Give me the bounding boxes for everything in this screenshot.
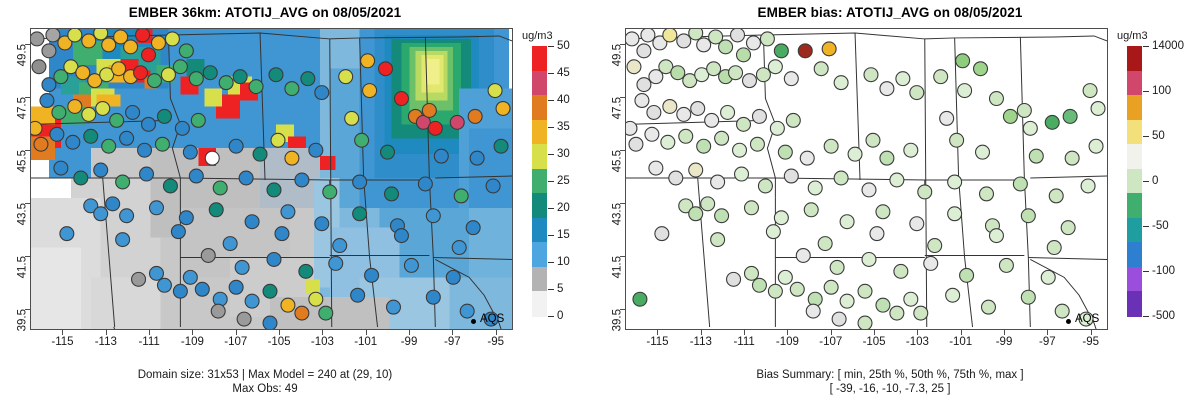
bias-colorbar-segment: [1127, 267, 1142, 292]
model-y-tick-label: 39.5: [16, 309, 28, 331]
bias-y-tick-label: 43.5: [611, 203, 623, 225]
panel-bias-title: EMBER bias: ATOTIJ_AVG on 08/05/2021: [625, 5, 1155, 20]
bias-x-tick-label: -105: [863, 336, 886, 348]
model-colorbar-tick: [548, 46, 554, 47]
bias-colorbar-segment: [1127, 193, 1142, 218]
model-colorbar-segment: [532, 71, 547, 96]
model-colorbar-tick-label: 5: [557, 283, 563, 295]
model-x-tick-label: -113: [95, 336, 117, 348]
bias-x-tick-label: -111: [733, 336, 754, 348]
bias-x-tick-label: -95: [1082, 336, 1099, 348]
bias-x-tick-label: -99: [996, 336, 1013, 348]
bias-colorbar-segment: [1127, 242, 1142, 267]
model-x-tick-label: -111: [138, 336, 159, 348]
panel-bias: EMBER bias: ATOTIJ_AVG on 08/05/2021: [600, 0, 1200, 409]
bias-colorbar-segment: [1127, 169, 1142, 194]
model-colorbar-tick-label: 20: [557, 202, 570, 214]
bias-colorbar-tick: [1143, 181, 1149, 182]
bias-colorbar-segment: [1127, 218, 1142, 243]
bias-colorbar-tick-label: -500: [1152, 310, 1175, 322]
bias-colorbar-tick-label: 14000: [1152, 40, 1184, 52]
bias-colorbar-segment: [1127, 291, 1142, 316]
bias-x-tick: [874, 330, 875, 335]
model-x-tick: [149, 330, 150, 335]
model-colorbar-segment: [532, 46, 547, 71]
caption-bias-line1: Bias Summary: [ min, 25th %, 50th %, 75t…: [625, 368, 1155, 382]
x-axis-bias: -115-113-111-109-107-105-103-101-99-97-9…: [625, 330, 1108, 356]
model-colorbar-tick: [548, 73, 554, 74]
bias-colorbar-segment: [1127, 95, 1142, 120]
model-x-tick: [496, 330, 497, 335]
colorbar-unit-bias: ug/m3: [1117, 30, 1148, 42]
model-x-tick: [106, 330, 107, 335]
model-x-tick: [279, 330, 280, 335]
model-colorbar-segment: [532, 169, 547, 194]
aqs-legend-label-model: AQS: [480, 313, 504, 325]
bias-y-tick-label: 49.5: [611, 44, 623, 66]
model-colorbar-tick: [548, 262, 554, 263]
model-colorbar-tick: [548, 100, 554, 101]
bias-colorbar-tick-label: -50: [1152, 220, 1169, 232]
bias-observation-points: [626, 29, 1107, 329]
bias-x-tick-label: -97: [1039, 336, 1056, 348]
model-x-tick-label: -99: [401, 336, 418, 348]
model-colorbar-segment: [532, 218, 547, 243]
model-colorbar-tick-label: 35: [557, 121, 570, 133]
bias-x-tick-label: -113: [690, 336, 712, 348]
model-colorbar-segment: [532, 95, 547, 120]
bias-colorbar-tick-label: 100: [1152, 85, 1171, 97]
bias-x-tick: [831, 330, 832, 335]
bias-x-tick: [657, 330, 658, 335]
model-x-tick: [452, 330, 453, 335]
bias-map-plot: AQS: [625, 28, 1108, 330]
y-axis-model: 49.547.545.543.541.539.5: [0, 28, 30, 330]
bias-x-tick-label: -107: [819, 336, 842, 348]
model-x-tick: [322, 330, 323, 335]
bias-colorbar-segment: [1127, 71, 1142, 96]
bias-y-tick-label: 39.5: [611, 309, 623, 331]
caption-bias-line2: [ -39, -16, -10, -7.3, 25 ]: [625, 382, 1155, 396]
model-y-tick-label: 45.5: [16, 150, 28, 172]
bias-colorbar-segment: [1127, 120, 1142, 145]
model-x-tick: [236, 330, 237, 335]
model-colorbar-tick: [548, 181, 554, 182]
bias-colorbar-tick: [1143, 136, 1149, 137]
colorbar-model: 50454035302520151050: [532, 46, 547, 316]
model-y-tick-label: 47.5: [16, 97, 28, 119]
model-colorbar-tick: [548, 208, 554, 209]
model-y-tick-label: 41.5: [16, 256, 28, 278]
model-colorbar-tick-label: 25: [557, 175, 570, 187]
model-colorbar-segment: [532, 267, 547, 292]
model-x-tick-label: -95: [487, 336, 504, 348]
model-colorbar-tick-label: 15: [557, 229, 570, 241]
bias-y-tick-label: 47.5: [611, 97, 623, 119]
colorbar-unit-model: ug/m3: [522, 30, 553, 42]
bias-x-tick: [961, 330, 962, 335]
model-x-tick: [366, 330, 367, 335]
model-x-tick-label: -107: [224, 336, 247, 348]
bias-x-tick: [1091, 330, 1092, 335]
model-colorbar-tick-label: 40: [557, 94, 570, 106]
bias-x-tick: [1004, 330, 1005, 335]
bias-colorbar-tick: [1143, 226, 1149, 227]
model-y-tick-label: 49.5: [16, 44, 28, 66]
model-y-tick-label: 43.5: [16, 203, 28, 225]
model-colorbar-tick: [548, 154, 554, 155]
bias-colorbar-tick-label: 0: [1152, 175, 1158, 187]
bias-x-tick: [744, 330, 745, 335]
caption-model-line1: Domain size: 31x53 | Max Model = 240 at …: [0, 368, 530, 382]
model-x-tick-label: -115: [51, 336, 73, 348]
model-colorbar-tick: [548, 289, 554, 290]
aqs-legend-dot-bias: [1066, 319, 1071, 324]
model-observation-points: [31, 29, 512, 329]
bias-x-tick: [917, 330, 918, 335]
bias-y-tick-label: 41.5: [611, 256, 623, 278]
bias-x-tick-label: -109: [776, 336, 799, 348]
model-colorbar-tick-label: 10: [557, 256, 570, 268]
bias-x-tick: [701, 330, 702, 335]
y-axis-bias: 49.547.545.543.541.539.5: [595, 28, 625, 330]
model-colorbar-tick: [548, 127, 554, 128]
model-x-tick-label: -97: [444, 336, 461, 348]
colorbar-bias: 14000100500-50-100-500: [1127, 46, 1142, 316]
figure-root: EMBER 36km: ATOTIJ_AVG on 08/05/2021: [0, 0, 1200, 409]
model-colorbar-tick-label: 30: [557, 148, 570, 160]
model-x-tick-label: -103: [311, 336, 334, 348]
bias-colorbar-tick: [1143, 46, 1149, 47]
model-colorbar-tick-label: 50: [557, 40, 570, 52]
model-map-plot: AQS: [30, 28, 513, 330]
model-x-tick-label: -105: [268, 336, 291, 348]
bias-colorbar-tick: [1143, 271, 1149, 272]
bias-colorbar-tick: [1143, 91, 1149, 92]
model-colorbar-tick: [548, 316, 554, 317]
aqs-legend-label-bias: AQS: [1075, 313, 1099, 325]
panel-model: EMBER 36km: ATOTIJ_AVG on 08/05/2021: [0, 0, 600, 409]
model-colorbar-tick-label: 0: [557, 310, 563, 322]
bias-colorbar-segment: [1127, 144, 1142, 169]
bias-colorbar-segment: [1127, 46, 1142, 71]
model-x-tick: [62, 330, 63, 335]
model-x-tick: [409, 330, 410, 335]
aqs-legend-dot: [471, 319, 476, 324]
model-x-tick-label: -109: [181, 336, 204, 348]
model-colorbar-tick: [548, 235, 554, 236]
model-colorbar-segment: [532, 291, 547, 316]
model-colorbar-segment: [532, 242, 547, 267]
model-colorbar-segment: [532, 144, 547, 169]
model-colorbar-segment: [532, 120, 547, 145]
bias-x-tick-label: -103: [906, 336, 929, 348]
model-colorbar-tick-label: 45: [557, 67, 570, 79]
bias-y-tick-label: 45.5: [611, 150, 623, 172]
caption-model-line2: Max Obs: 49: [0, 382, 530, 396]
x-axis-model: -115-113-111-109-107-105-103-101-99-97-9…: [30, 330, 513, 356]
model-x-tick: [192, 330, 193, 335]
bias-x-tick: [1047, 330, 1048, 335]
bias-colorbar-tick-label: 50: [1152, 130, 1165, 142]
model-colorbar-segment: [532, 193, 547, 218]
bias-x-tick-label: -101: [949, 336, 972, 348]
bias-x-tick-label: -115: [646, 336, 668, 348]
bias-colorbar-tick: [1143, 316, 1149, 317]
bias-colorbar-tick-label: -100: [1152, 265, 1175, 277]
bias-x-tick: [787, 330, 788, 335]
model-x-tick-label: -101: [354, 336, 377, 348]
panel-model-title: EMBER 36km: ATOTIJ_AVG on 08/05/2021: [0, 5, 530, 20]
